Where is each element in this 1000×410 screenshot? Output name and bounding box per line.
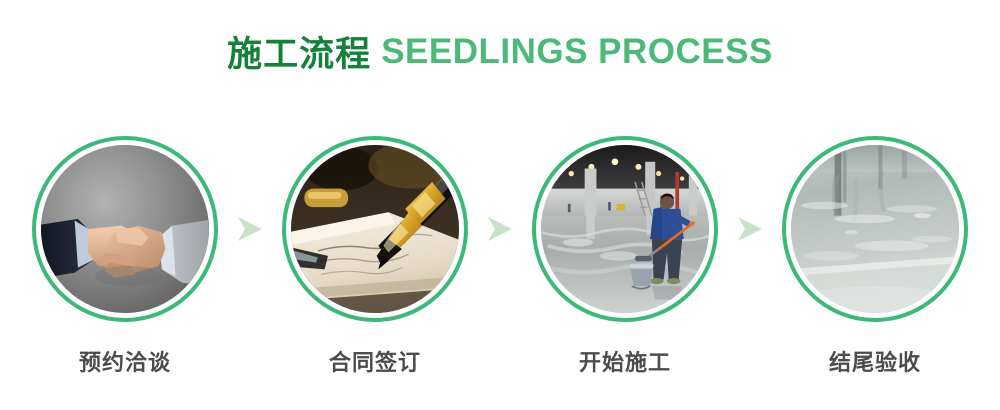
chevron-right-arrow-icon <box>720 136 780 322</box>
step-3-circle-ring <box>532 136 718 322</box>
process-step-3[interactable]: 开始施工 <box>530 136 720 374</box>
chevron-right-arrow-icon <box>470 136 530 322</box>
step-3-label: 开始施工 <box>579 352 671 374</box>
step-1-circle-ring <box>32 136 218 322</box>
finished-floor-photo <box>791 145 959 313</box>
step-2-label: 合同签订 <box>329 352 421 374</box>
process-step-1[interactable]: 预约洽谈 <box>30 136 220 374</box>
page-title: 施工流程SEEDLINGS PROCESS <box>0 26 1000 77</box>
process-step-2[interactable]: 合同签订 <box>280 136 470 374</box>
process-steps-row: 预约洽谈 <box>0 136 1000 386</box>
process-step-4[interactable]: 结尾验收 <box>780 136 970 374</box>
contract-signing-photo <box>291 145 459 313</box>
page-title-english: SEEDLINGS PROCESS <box>381 32 773 71</box>
construction-worker-photo <box>541 145 709 313</box>
page-title-chinese: 施工流程 <box>227 35 371 74</box>
step-4-circle-ring <box>782 136 968 322</box>
step-4-label: 结尾验收 <box>829 352 921 374</box>
step-1-label: 预约洽谈 <box>79 352 171 374</box>
step-2-circle-ring <box>282 136 468 322</box>
chevron-right-arrow-icon <box>220 136 280 322</box>
handshake-photo <box>41 145 209 313</box>
